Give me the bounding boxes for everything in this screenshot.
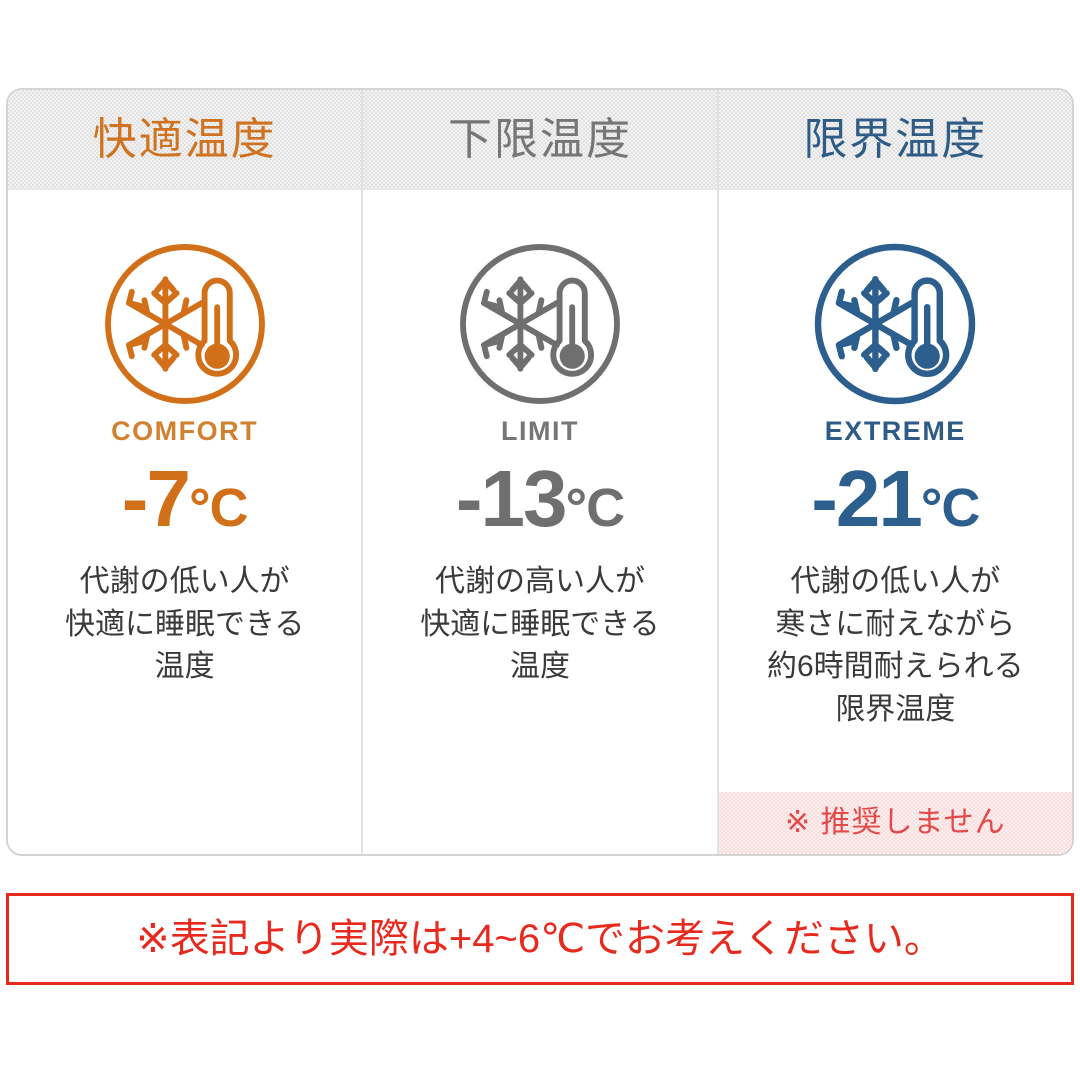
temperature-value-comfort: -7°C bbox=[122, 459, 248, 539]
snowflake-thermometer-icon bbox=[811, 240, 979, 408]
temperature-offset-notice: ※表記より実際は+4~6℃でお考えください。 bbox=[6, 893, 1074, 985]
not-recommended-text: ※ 推奨しません bbox=[785, 808, 1006, 838]
level-label-limit: LIMIT bbox=[501, 418, 579, 445]
temperature-unit-limit: °C bbox=[566, 478, 625, 538]
temperature-column-limit: 下限温度 bbox=[361, 90, 716, 854]
column-header-title-limit: 下限温度 bbox=[448, 118, 632, 162]
column-header-limit: 下限温度 bbox=[363, 90, 716, 190]
temperature-value-extreme: -21°C bbox=[811, 459, 979, 539]
column-header-title-comfort: 快適温度 bbox=[93, 118, 277, 162]
column-header-extreme: 限界温度 bbox=[719, 90, 1072, 190]
description-extreme: 代謝の低い人が 寒さに耐えながら 約6時間耐えられる 限界温度 bbox=[767, 561, 1024, 731]
temperature-column-comfort: 快適温度 bbox=[8, 90, 361, 854]
level-label-comfort: COMFORT bbox=[111, 418, 258, 445]
snowflake-thermometer-icon bbox=[101, 240, 269, 408]
column-header-comfort: 快適温度 bbox=[8, 90, 361, 190]
not-recommended-banner: ※ 推奨しません bbox=[719, 792, 1072, 854]
temperature-number-comfort: -7 bbox=[122, 454, 189, 543]
temperature-unit-comfort: °C bbox=[189, 478, 248, 538]
description-comfort: 代謝の低い人が 快適に睡眠できる 温度 bbox=[65, 561, 304, 689]
snowflake-thermometer-icon bbox=[456, 240, 624, 408]
temperature-value-limit: -13°C bbox=[456, 459, 624, 539]
column-body-limit: LIMIT -13°C 代謝の高い人が 快適に睡眠できる 温度 bbox=[363, 190, 716, 854]
temperature-offset-notice-text: ※表記より実際は+4~6℃でお考えください。 bbox=[136, 919, 944, 959]
column-header-title-extreme: 限界温度 bbox=[803, 118, 987, 162]
level-label-extreme: EXTREME bbox=[825, 418, 966, 445]
column-body-extreme: EXTREME -21°C 代謝の低い人が 寒さに耐えながら 約6時間耐えられる… bbox=[719, 190, 1072, 854]
temperature-rating-infographic: 快適温度 bbox=[0, 0, 1080, 1073]
temperature-comparison-card: 快適温度 bbox=[6, 88, 1074, 856]
temperature-unit-extreme: °C bbox=[921, 478, 980, 538]
temperature-number-extreme: -21 bbox=[811, 454, 921, 543]
temperature-column-extreme: 限界温度 bbox=[717, 90, 1072, 854]
temperature-number-limit: -13 bbox=[456, 454, 566, 543]
description-limit: 代謝の高い人が 快適に睡眠できる 温度 bbox=[420, 561, 659, 689]
column-body-comfort: COMFORT -7°C 代謝の低い人が 快適に睡眠できる 温度 bbox=[8, 190, 361, 854]
